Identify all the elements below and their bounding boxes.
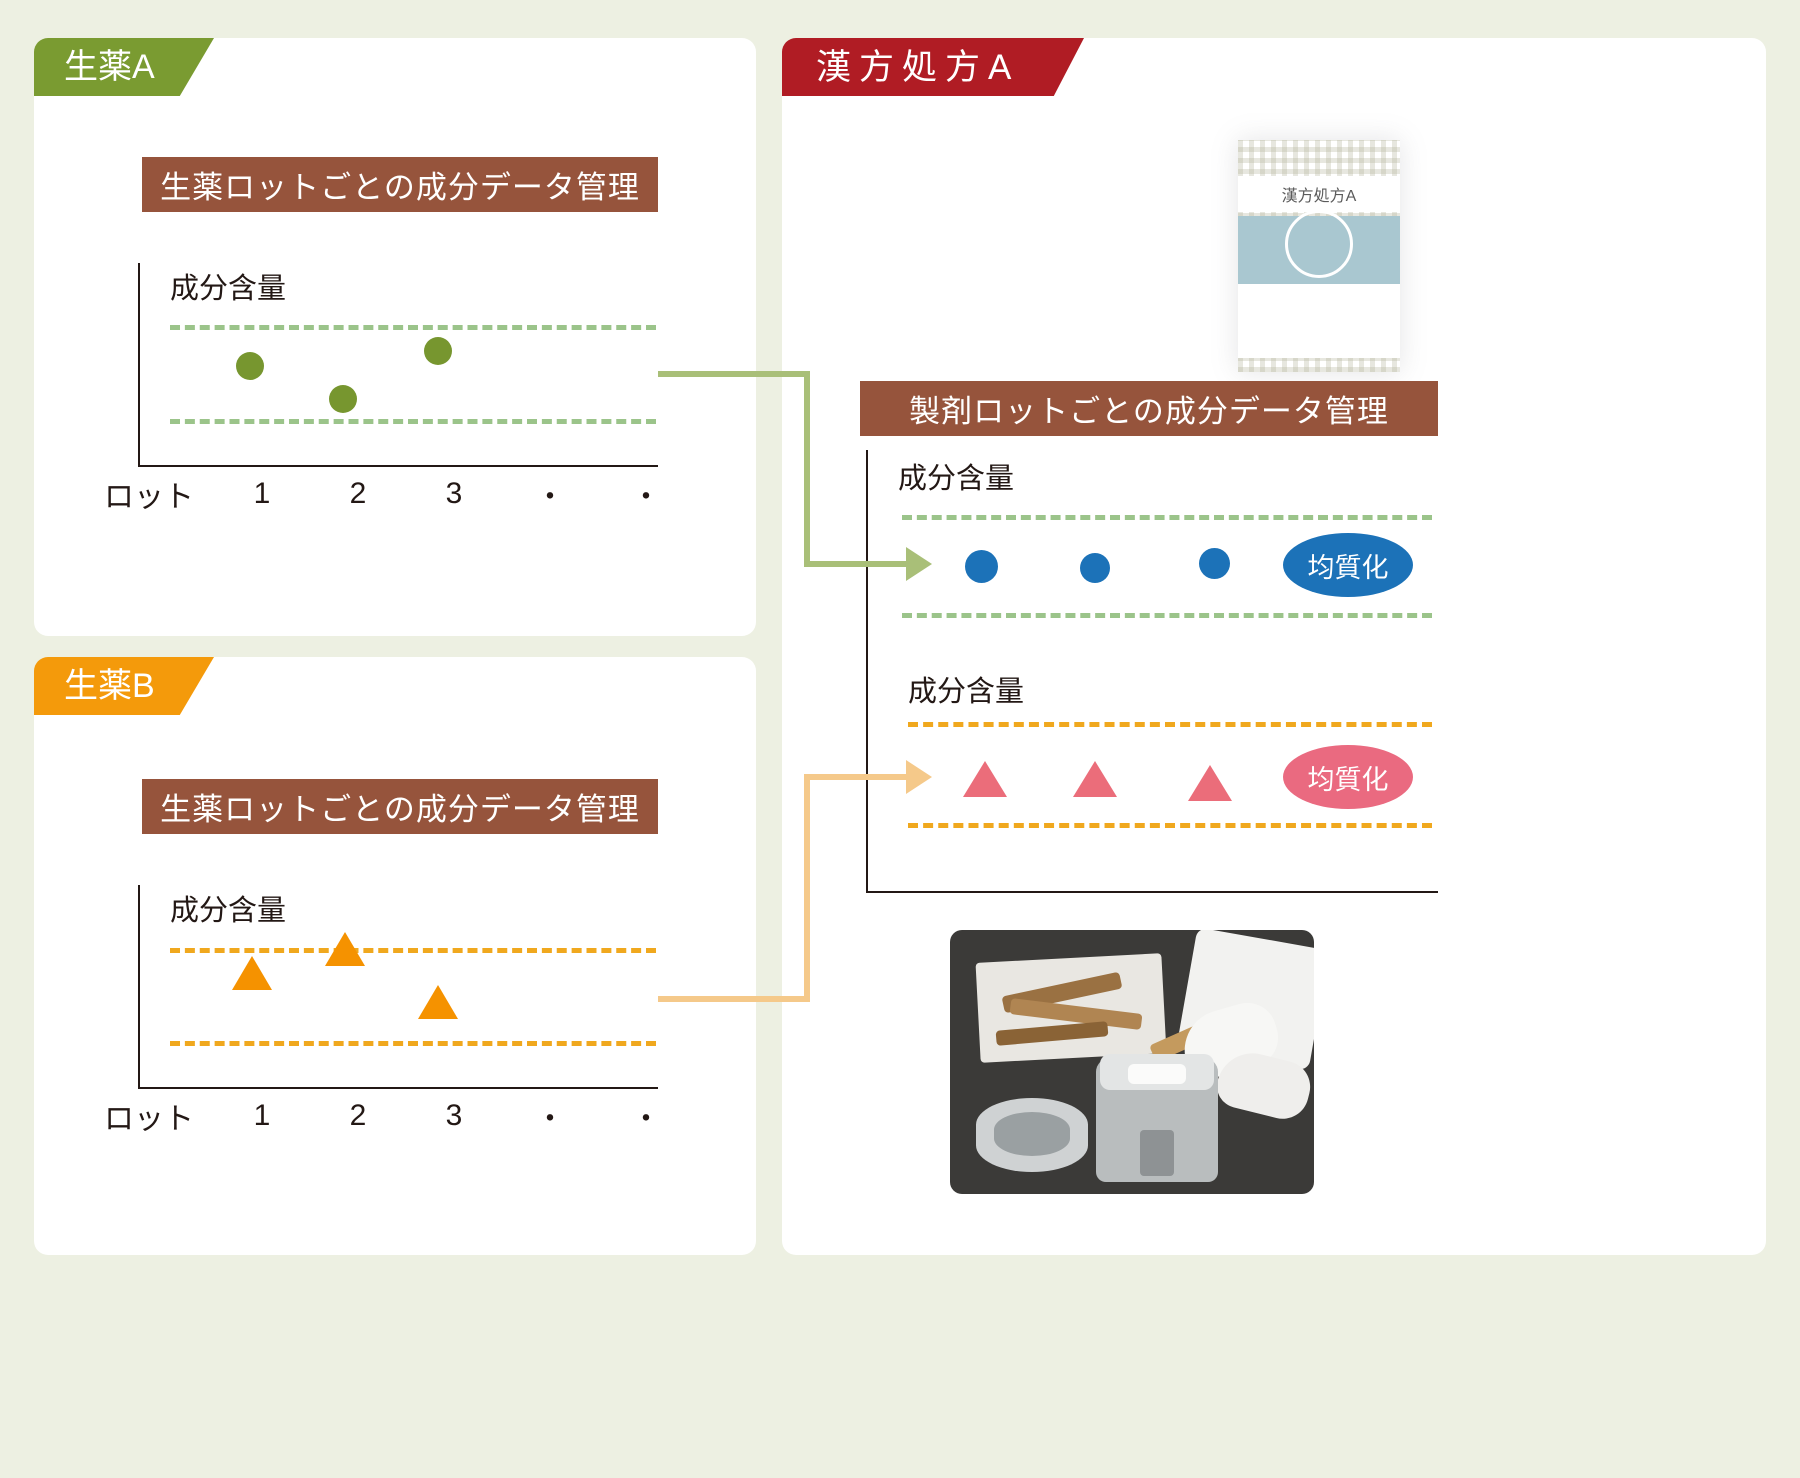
tab-herb-a-label: 生薬A [64, 50, 155, 84]
section-title-herb-b-label: 生薬ロットごとの成分データ管理 [160, 784, 640, 829]
chart-herb-a-lower-spec-line [170, 419, 656, 424]
chart-herb-b-tick-3: 3 [406, 1099, 502, 1133]
chart-herb-a-upper-spec-line [170, 325, 656, 330]
tab-herb-b-label: 生薬B [64, 669, 155, 703]
product-package-image: 漢方処方A [1238, 140, 1400, 372]
chart-herb-b-point-1 [232, 956, 272, 990]
chart-herb-a-x-axis [138, 465, 658, 467]
chart-formulation-bottom-point-2 [1073, 761, 1117, 797]
chart-herb-a-tick-1: 1 [214, 477, 310, 511]
chart-herb-b-lot-label: ロット [104, 1094, 214, 1138]
section-title-herb-b: 生薬ロットごとの成分データ管理 [142, 779, 658, 834]
badge-homogenized-bottom-label: 均質化 [1308, 758, 1389, 797]
herb-cutting-photo [950, 930, 1314, 1194]
chart-formulation-top-point-1 [965, 550, 998, 583]
chart-herb-a-tick-3: 3 [406, 477, 502, 511]
badge-homogenized-top: 均質化 [1283, 533, 1413, 597]
chart-formulation-bottom-lower-spec-line [908, 823, 1432, 828]
chart-herb-a-point-3 [424, 337, 452, 365]
chart-formulation-bottom-point-3 [1188, 765, 1232, 801]
tab-herb-b: 生薬B [34, 657, 214, 715]
chart-herb-b-point-2 [325, 932, 365, 966]
chart-formulation-top-point-2 [1080, 553, 1110, 583]
photo-metal-bowl-interior [994, 1112, 1070, 1156]
chart-formulation-bottom-upper-spec-line [908, 722, 1432, 727]
section-title-formulation-label: 製剤ロットごとの成分データ管理 [909, 386, 1389, 431]
chart-herb-a-ylabel: 成分含量 [170, 265, 286, 307]
chart-herb-a-point-1 [236, 352, 264, 380]
photo-canister-clip [1140, 1130, 1174, 1176]
chart-herb-a-tick-4: ・ [502, 472, 598, 516]
tab-kampo-formula-a-label: 漢方処方A [816, 50, 1019, 85]
chart-formulation-x-axis [866, 891, 1438, 893]
chart-herb-a-tick-5: ・ [598, 472, 694, 516]
package-bottom-area [1238, 284, 1400, 358]
section-title-herb-a-label: 生薬ロットごとの成分データ管理 [160, 162, 640, 207]
chart-herb-a-x-tick-labels: ロット 1 2 3 ・ ・ [104, 472, 694, 516]
section-title-herb-a: 生薬ロットごとの成分データ管理 [142, 157, 658, 212]
connector-orange-seg-horizontal-2 [804, 774, 908, 780]
connector-green-arrowhead-icon [906, 547, 932, 581]
package-circle-icon [1285, 210, 1353, 278]
chart-formulation-bottom-ylabel: 成分含量 [908, 668, 1024, 710]
connector-orange-arrowhead-icon [906, 760, 932, 794]
badge-homogenized-bottom: 均質化 [1283, 745, 1413, 809]
chart-herb-b-x-axis [138, 1087, 658, 1089]
chart-herb-b-tick-1: 1 [214, 1099, 310, 1133]
tab-herb-a: 生薬A [34, 38, 214, 96]
chart-formulation-top-lower-spec-line [902, 613, 1432, 618]
connector-orange-seg-horizontal-1 [658, 996, 810, 1002]
chart-formulation-top-upper-spec-line [902, 515, 1432, 520]
chart-herb-a-y-axis [138, 263, 140, 467]
badge-homogenized-top-label: 均質化 [1308, 546, 1389, 585]
chart-herb-a-tick-2: 2 [310, 477, 406, 511]
chart-herb-b-tick-4: ・ [502, 1094, 598, 1138]
connector-green-seg-vertical [804, 371, 810, 567]
chart-formulation-top-point-3 [1199, 548, 1230, 579]
chart-herb-b-lower-spec-line [170, 1041, 656, 1046]
chart-formulation-y-axis [866, 450, 868, 893]
diagram-canvas: 生薬A 生薬ロットごとの成分データ管理 成分含量 ロット 1 2 3 ・ ・ 生… [0, 0, 1800, 1478]
connector-orange-seg-vertical [804, 774, 810, 1002]
chart-herb-b-point-3 [418, 985, 458, 1019]
photo-canister-cap [1128, 1064, 1186, 1084]
chart-herb-b-ylabel: 成分含量 [170, 887, 286, 929]
connector-green-seg-horizontal-2 [804, 561, 908, 567]
chart-herb-b-upper-spec-line [170, 948, 656, 953]
chart-herb-a-lot-label: ロット [104, 472, 214, 516]
section-title-formulation: 製剤ロットごとの成分データ管理 [860, 381, 1438, 436]
chart-herb-b-tick-5: ・ [598, 1094, 694, 1138]
chart-herb-b-x-tick-labels: ロット 1 2 3 ・ ・ [104, 1094, 694, 1138]
chart-formulation-top-ylabel: 成分含量 [898, 455, 1014, 497]
chart-herb-a-point-2 [329, 385, 357, 413]
chart-herb-b-tick-2: 2 [310, 1099, 406, 1133]
package-label: 漢方処方A [1238, 176, 1400, 212]
chart-formulation-bottom-point-1 [963, 761, 1007, 797]
chart-herb-b-y-axis [138, 885, 140, 1089]
connector-green-seg-horizontal-1 [658, 371, 810, 377]
tab-kampo-formula-a: 漢方処方A [782, 38, 1084, 96]
